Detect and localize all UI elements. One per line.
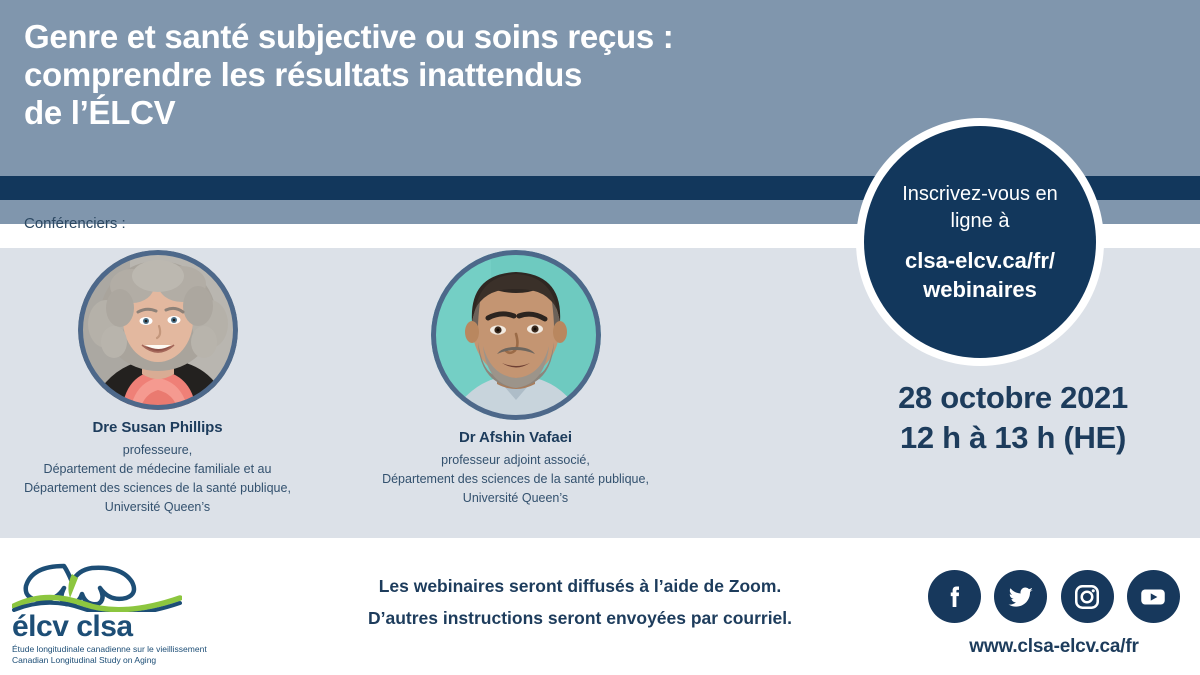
speaker-card-afshin-vafaei: Dr Afshin Vafaei professeur adjoint asso…	[368, 250, 663, 508]
logo-tagline-fr: Étude longitudinale canadienne sur le vi…	[12, 644, 232, 655]
speaker-role-line: Département des sciences de la santé pub…	[368, 470, 663, 489]
butterfly-icon	[12, 560, 182, 612]
speakers-label: Conférenciers :	[24, 215, 126, 232]
registration-intro-line-2: ligne à	[902, 208, 1058, 235]
registration-intro-line-1: Inscrivez-vous en	[902, 181, 1058, 208]
title-line-1: Genre et santé subjective ou soins reçus…	[24, 18, 864, 56]
event-date: 28 octobre 2021	[838, 378, 1188, 418]
speaker-role-line: Université Queen’s	[368, 489, 663, 508]
speaker-role-line: professeur adjoint associé,	[368, 451, 663, 470]
title-line-3: de l’ÉLCV	[24, 94, 864, 132]
footer-note: Les webinaires seront diffusés à l’aide …	[300, 570, 860, 634]
avatar	[78, 250, 238, 410]
registration-intro: Inscrivez-vous en ligne à	[880, 181, 1080, 235]
registration-url-line-1: clsa-elcv.ca/fr/	[905, 246, 1055, 275]
event-time: 12 h à 13 h (HE)	[838, 418, 1188, 458]
speaker-role-line: Département de médecine familiale et au	[10, 460, 305, 479]
speaker-name: Dr Afshin Vafaei	[368, 429, 663, 446]
registration-url-line-2: webinaires	[905, 275, 1055, 304]
speaker-role: professeure, Département de médecine fam…	[10, 441, 305, 517]
speaker-role: professeur adjoint associé, Département …	[368, 451, 663, 508]
page-title: Genre et santé subjective ou soins reçus…	[24, 18, 864, 132]
speaker-role-line: professeure,	[10, 441, 305, 460]
speaker-role-line: Université Queen’s	[10, 498, 305, 517]
logo-tagline-en: Canadian Longitudinal Study on Aging	[12, 655, 232, 666]
title-line-2: comprendre les résultats inattendus	[24, 56, 864, 94]
registration-badge[interactable]: Inscrivez-vous en ligne à clsa-elcv.ca/f…	[864, 126, 1096, 358]
youtube-icon[interactable]	[1127, 570, 1180, 623]
social-links	[928, 570, 1180, 623]
speaker-role-line: Département des sciences de la santé pub…	[10, 479, 305, 498]
portrait-susan-phillips-image	[78, 250, 238, 410]
footer-note-line-1: Les webinaires seront diffusés à l’aide …	[300, 570, 860, 602]
logo-wordmark: élcv clsa	[12, 610, 232, 644]
twitter-icon[interactable]	[994, 570, 1047, 623]
event-datetime: 28 octobre 2021 12 h à 13 h (HE)	[838, 378, 1188, 458]
website-url[interactable]: www.clsa-elcv.ca/fr	[928, 636, 1180, 658]
facebook-icon[interactable]	[928, 570, 981, 623]
portrait-afshin-vafaei-image	[431, 250, 601, 420]
speaker-card-susan-phillips: Dre Susan Phillips professeure, Départem…	[10, 250, 305, 517]
avatar	[431, 250, 601, 420]
webinar-poster: Genre et santé subjective ou soins reçus…	[0, 0, 1200, 675]
clsa-elcv-logo: élcv clsa Étude longitudinale canadienne…	[12, 560, 232, 666]
registration-url[interactable]: clsa-elcv.ca/fr/ webinaires	[891, 246, 1069, 304]
speaker-name: Dre Susan Phillips	[10, 419, 305, 436]
footer-note-line-2: D’autres instructions seront envoyées pa…	[300, 602, 860, 634]
instagram-icon[interactable]	[1061, 570, 1114, 623]
